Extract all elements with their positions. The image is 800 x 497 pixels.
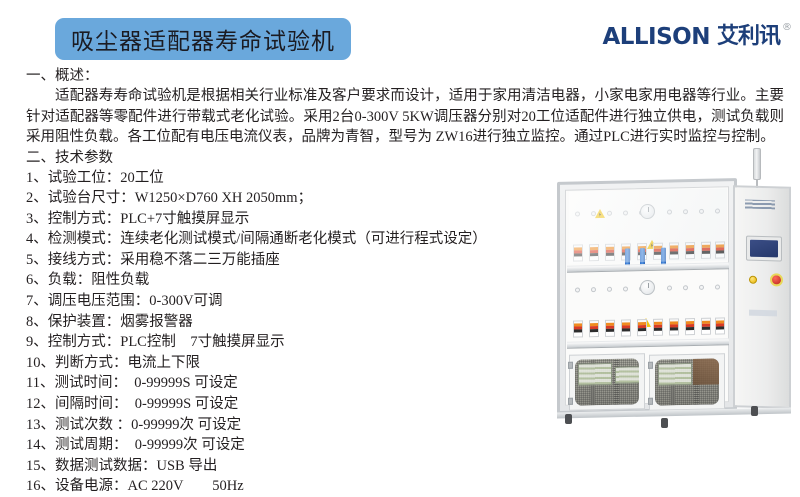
caster-wheel (751, 406, 758, 416)
machine-illustration (505, 168, 795, 450)
test-station-module[interactable] (685, 242, 695, 259)
test-station-module[interactable] (589, 320, 599, 337)
lower-station-row (569, 294, 727, 337)
registered-trademark-icon: ® (782, 23, 792, 33)
test-station-module[interactable] (573, 244, 583, 261)
test-station-module[interactable] (605, 320, 615, 337)
interior-panel (693, 358, 719, 385)
caster-wheel (565, 414, 572, 424)
socket (699, 209, 704, 214)
socket (683, 285, 688, 290)
panel-nameplate (745, 200, 775, 210)
socket (607, 211, 612, 216)
door-hinge (568, 362, 573, 369)
test-station-module[interactable] (589, 244, 599, 261)
overview-paragraph: 适配器寿寿命试验机是根据相关行业标准及客户要求而设计，适用于家用清洁电器，小家电… (26, 86, 784, 148)
test-station-module[interactable] (605, 244, 615, 261)
test-station-module[interactable] (573, 320, 583, 337)
emergency-stop-button[interactable] (770, 273, 783, 286)
page-title: 吸尘器适配器寿命试验机 (71, 22, 335, 56)
mesh-screen (655, 358, 719, 405)
test-station-module[interactable] (701, 318, 711, 335)
test-station-module[interactable] (637, 319, 647, 336)
socket (607, 287, 612, 292)
page-title-box: 吸尘器适配器寿命试验机 (55, 18, 351, 60)
socket (667, 285, 672, 290)
test-station-module[interactable] (715, 317, 725, 334)
resistive-load-bank (615, 366, 639, 384)
test-station-module[interactable] (653, 319, 663, 336)
touchscreen-hmi[interactable] (746, 236, 782, 262)
socket (715, 208, 720, 213)
control-panel (733, 185, 791, 409)
indicator-button[interactable] (749, 276, 757, 284)
test-station-module[interactable] (685, 318, 695, 335)
mesh-screen (575, 358, 639, 405)
caster-wheel (661, 418, 668, 428)
tower-light-icon (753, 148, 761, 180)
socket (591, 287, 596, 292)
load-cabinet-door-left[interactable] (569, 353, 645, 411)
logo-latin-text: ALLISON (602, 26, 710, 49)
socket (715, 284, 720, 289)
test-station-module[interactable] (715, 241, 725, 258)
touchscreen-display[interactable] (750, 240, 778, 258)
socket (683, 209, 688, 214)
upper-station-row (569, 218, 727, 261)
socket (575, 287, 580, 292)
panel-label-plate (749, 310, 777, 317)
load-cabinet-door-right[interactable] (649, 353, 725, 411)
param-item-16: 16、设备电源：AC 220V 50Hz (26, 476, 786, 497)
logo-chinese-text: 艾利讯 (717, 26, 780, 48)
socket (623, 210, 628, 215)
overview-heading: 一、概述： (26, 66, 786, 86)
warning-triangle-icon (595, 209, 605, 218)
resistive-load-bank (578, 363, 612, 386)
socket (623, 286, 628, 291)
door-hinge (648, 362, 653, 369)
door-hinge (568, 398, 573, 405)
param-item-15: 15、数据测试数据：USB 导出 (26, 456, 786, 477)
test-station-module[interactable] (669, 318, 679, 335)
socket (575, 211, 580, 216)
company-logo: ALLISON 艾利讯 ® (602, 26, 792, 49)
socket (667, 209, 672, 214)
params-heading: 二、技术参数 (26, 148, 786, 168)
test-station-module[interactable] (701, 242, 711, 259)
socket (699, 285, 704, 290)
test-station-module[interactable] (669, 242, 679, 259)
machine-photo (505, 168, 795, 450)
test-station-module[interactable] (621, 319, 631, 336)
resistive-load-bank (658, 363, 692, 386)
door-hinge (648, 398, 653, 405)
